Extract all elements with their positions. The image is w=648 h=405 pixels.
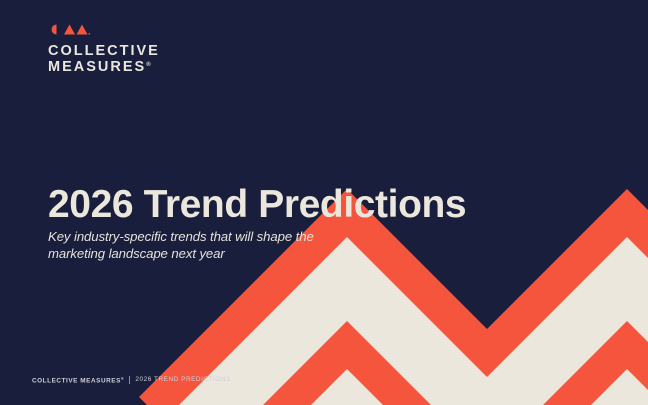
blue-corner-chevron (279, 349, 648, 405)
footer-deck-title: 2026 TREND PREDICTIONS (135, 376, 230, 383)
page-subtitle: Key industry-specific trends that will s… (48, 228, 368, 262)
triangle-shape-1 (64, 25, 75, 35)
logo-wordmark-line2-text: MEASURES (48, 59, 146, 75)
brand-logo: COLLECTIVE MEASURES® (48, 24, 160, 74)
slide-footer: COLLECTIVE MEASURES® 2026 TREND PREDICTI… (32, 376, 231, 385)
half-disc-shape (52, 25, 57, 35)
footer-divider (129, 376, 130, 384)
footer-brand-text: COLLECTIVE MEASURES (32, 377, 121, 384)
footer-trademark-icon: ® (121, 376, 125, 381)
orange-chevron-upper (139, 321, 648, 405)
page-title: 2026 Trend Predictions (48, 182, 466, 228)
collective-measures-mark-icon (48, 24, 90, 35)
footer-brand: COLLECTIVE MEASURES® (32, 376, 124, 385)
triangle-shape-2 (77, 25, 88, 35)
cream-chevron-outer (139, 369, 648, 405)
title-slide: COLLECTIVE MEASURES® 2026 Trend Predicti… (0, 0, 648, 405)
logo-wordmark-line1: COLLECTIVE (48, 44, 160, 58)
logo-trademark-icon: ® (146, 62, 150, 68)
logo-dot (88, 33, 90, 35)
logo-wordmark-line2: MEASURES® (48, 58, 160, 74)
